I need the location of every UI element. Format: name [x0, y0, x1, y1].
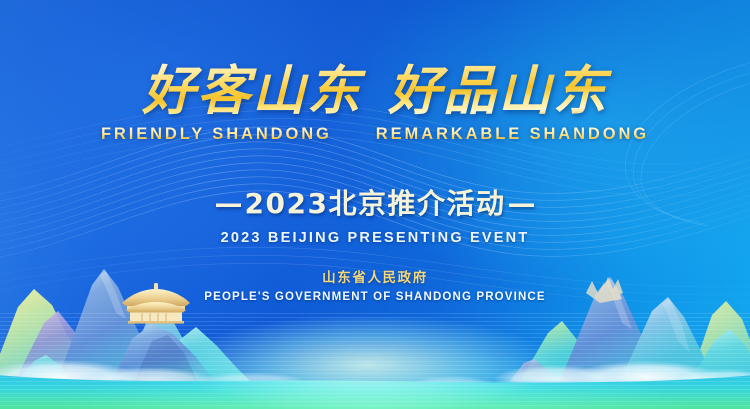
main-title: 好客山东好品山东 [0, 62, 750, 121]
event-title-cn: —2023北京推介活动— [0, 182, 750, 222]
main-title-left: 好客山东 [142, 60, 362, 122]
subtitle-row: FRIENDLY SHANDONG REMARKABLE SHANDONG [0, 125, 750, 144]
event-block: —2023北京推介活动— 2023 BEIJING PRESENTING EVE… [0, 182, 750, 246]
poster-banner: 好客山东好品山东 FRIENDLY SHANDONG REMARKABLE SH… [0, 0, 750, 409]
subtitle-right-en: REMARKABLE SHANDONG [376, 125, 649, 144]
dash-left: — [213, 187, 245, 220]
main-title-right: 好品山东 [388, 60, 608, 122]
title-block: 好客山东好品山东 FRIENDLY SHANDONG REMARKABLE SH… [0, 62, 750, 144]
dash-right: — [505, 187, 537, 220]
pavilion-icon [122, 283, 190, 324]
landscape-scenery [0, 249, 750, 409]
event-title-en: 2023 BEIJING PRESENTING EVENT [0, 230, 750, 246]
subtitle-left-en: FRIENDLY SHANDONG [101, 125, 332, 144]
crag-highlights [586, 277, 623, 303]
event-title-cn-text: 2023北京推介活动 [245, 187, 506, 220]
